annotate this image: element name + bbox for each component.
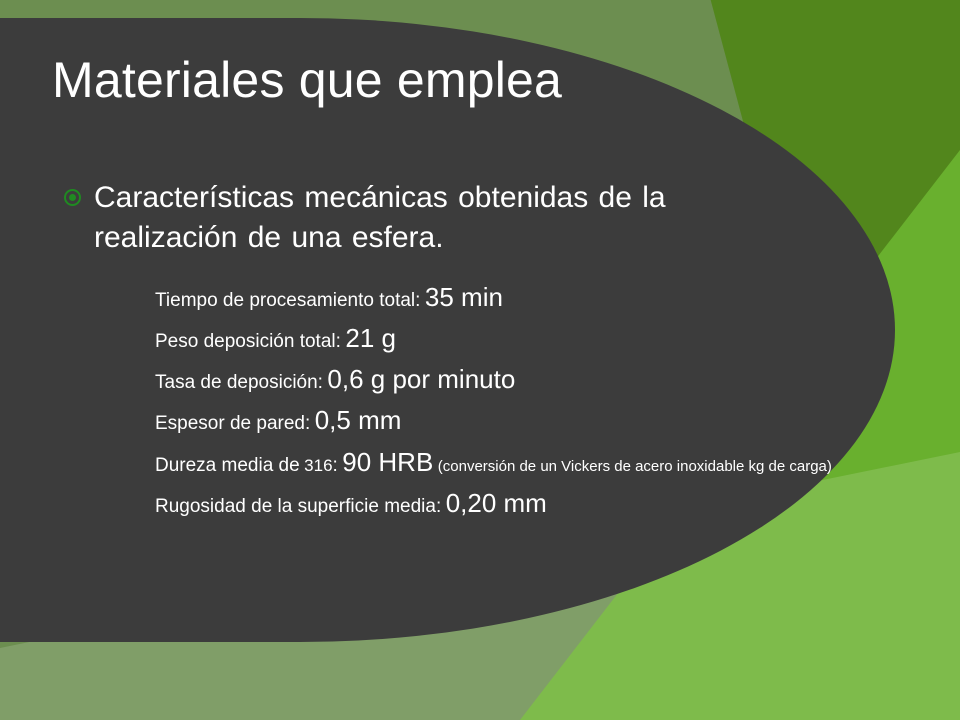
detail-value: 90 HRB <box>342 447 433 477</box>
detail-value: 0,5 mm <box>315 405 402 435</box>
detail-label: Tasa de deposición: <box>155 372 323 393</box>
primary-bullet-text: Características mecánicas obtenidas de l… <box>94 178 754 257</box>
detail-surface-roughness: Rugosidad de la superficie media: 0,20 m… <box>62 488 852 518</box>
target-ring-bullet-icon <box>64 189 81 206</box>
detail-label: Rugosidad de la superficie media: <box>155 496 441 517</box>
detail-label: Peso deposición total: <box>155 331 341 352</box>
primary-bullet-item: Características mecánicas obtenidas de l… <box>64 178 804 257</box>
detail-processing-time: Tiempo de procesamiento total: 35 min <box>62 282 852 312</box>
detail-label: Tiempo de procesamiento total: <box>155 290 420 311</box>
detail-list: Tiempo de procesamiento total: 35 min Pe… <box>62 282 852 529</box>
detail-deposition-rate: Tasa de deposición: 0,6 g por minuto <box>62 364 852 394</box>
detail-value: 35 min <box>425 282 503 312</box>
detail-label: Espesor de pared: <box>155 413 310 434</box>
slide-title: Materiales que emplea <box>52 54 562 107</box>
bullet-row: Características mecánicas obtenidas de l… <box>64 178 804 257</box>
detail-hardness: Dureza media de 316: 90 HRB (conversión … <box>62 447 852 477</box>
detail-value: 21 g <box>345 323 396 353</box>
detail-wall-thickness: Espesor de pared: 0,5 mm <box>62 405 852 435</box>
detail-deposition-weight: Peso deposición total: 21 g <box>62 323 852 353</box>
detail-note: (conversión de un Vickers de acero inoxi… <box>438 458 832 475</box>
detail-label-colon: : <box>333 455 338 476</box>
presentation-slide: Materiales que emplea Características me… <box>0 0 960 720</box>
detail-value: 0,20 mm <box>446 488 547 518</box>
slide-content: Materiales que emplea Características me… <box>0 0 960 720</box>
detail-label: Dureza media de <box>155 455 300 476</box>
detail-label-alloy: 316 <box>304 456 332 475</box>
detail-value: 0,6 g por minuto <box>327 364 515 394</box>
